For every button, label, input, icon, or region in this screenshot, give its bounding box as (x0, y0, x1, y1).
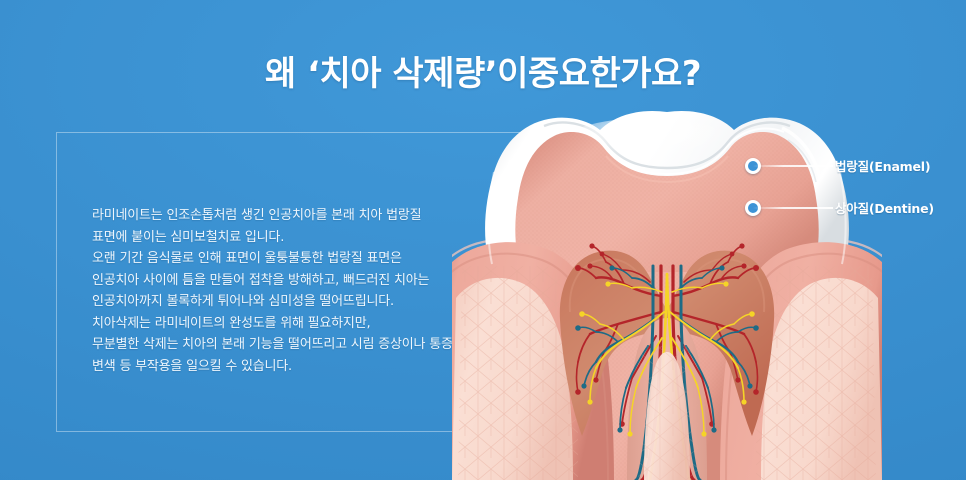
description-paragraph-1: 라미네이트는 인조손톱처럼 생긴 인공치아를 본래 치아 법랑질 표면에 붙이는… (92, 205, 512, 377)
callout-label-enamel: 법랑질(Enamel) (835, 156, 930, 175)
callout-leader-line (753, 165, 833, 167)
callout-dentine[interactable]: 상아질(Dentine) (745, 200, 960, 216)
description-text-block: 라미네이트는 인조손톱처럼 생긴 인공치아를 본래 치아 법랑질 표면에 붙이는… (92, 162, 512, 480)
root-canal-cover (638, 346, 698, 480)
page-title: 왜 ‘치아 삭제량’이중요한가요? (0, 46, 966, 95)
callout-label-dentine: 상아질(Dentine) (835, 198, 934, 217)
paragraph-spacer (92, 420, 512, 441)
callout-leader-line (753, 207, 833, 209)
callout-enamel[interactable]: 법랑질(Enamel) (745, 158, 960, 174)
page-background: 왜 ‘치아 삭제량’이중요한가요? 라미네이트는 인조손톱처럼 생긴 인공치아를… (0, 0, 966, 480)
